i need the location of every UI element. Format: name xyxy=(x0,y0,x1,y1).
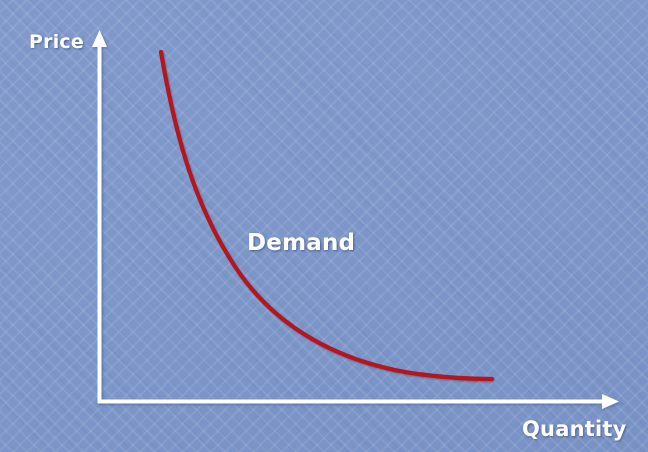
demand-curve xyxy=(161,52,492,379)
demand-curve-diagram: Price Quantity Demand xyxy=(0,0,648,452)
demand-curve-label: Demand xyxy=(247,230,355,256)
x-axis xyxy=(98,394,619,409)
up-arrow-icon xyxy=(92,30,107,47)
diagram-canvas xyxy=(0,0,648,452)
y-axis xyxy=(92,30,107,403)
right-arrow-icon xyxy=(602,394,619,409)
demand-curve-path xyxy=(161,52,492,379)
x-axis-label: Quantity xyxy=(522,417,627,441)
y-axis-label: Price xyxy=(29,31,84,53)
